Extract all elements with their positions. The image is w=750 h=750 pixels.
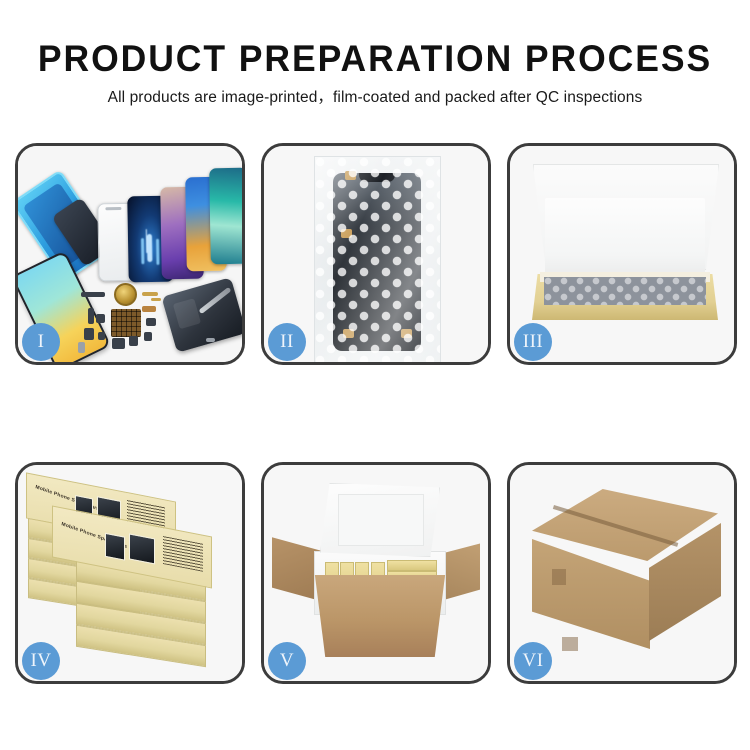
gold-contact-part (151, 298, 161, 301)
bubble-wrap-bag (314, 156, 441, 362)
panel-5-badge: V (268, 642, 306, 680)
box-spec-text-front (163, 536, 203, 572)
packed-box-5 (387, 560, 437, 571)
antenna-strip-part (88, 308, 94, 324)
chip-array-part (111, 309, 141, 337)
speaker-coil-part (114, 283, 137, 306)
page-header: PRODUCT PREPARATION PROCESS All products… (0, 0, 750, 109)
styrofoam-lid (320, 483, 440, 557)
button-flex-part (78, 342, 85, 353)
loudspeaker-part (129, 336, 138, 346)
page-title: PRODUCT PREPARATION PROCESS (15, 38, 735, 80)
foam-sheet (545, 198, 705, 280)
panel-2-badge: II (268, 323, 306, 361)
flex-cable-part (81, 292, 105, 297)
page-subtitle: All products are image-printed，film-coat… (0, 87, 750, 109)
panel-1-badge: I (22, 323, 60, 361)
screw-pack-part (144, 332, 152, 341)
box-window-front-1 (105, 533, 125, 561)
process-panel-5[interactable]: V (261, 462, 491, 684)
bag-sheen (315, 157, 440, 362)
copper-shield-part (142, 306, 156, 312)
process-panel-3[interactable]: III (507, 143, 737, 365)
carton-tape-upper (552, 569, 566, 585)
screwdriver-bit-part (206, 338, 215, 342)
bubble-wrapped-contents (544, 277, 706, 305)
process-panel-grid: I II III (15, 143, 737, 684)
gold-connector-part (142, 292, 158, 296)
carton-body (306, 575, 454, 657)
process-panel-2[interactable]: II (261, 143, 491, 365)
sim-tray-part (98, 332, 105, 340)
panel-4-badge: IV (22, 642, 60, 680)
process-panel-6[interactable]: VI (507, 462, 737, 684)
panel-6-badge: VI (514, 642, 552, 680)
camera-module-part (96, 314, 105, 323)
process-panel-4[interactable]: Mobile Phone Spare Parts Mobile Phone Sp… (15, 462, 245, 684)
sensor-part (146, 318, 156, 326)
box-window-front-2 (129, 533, 155, 564)
process-panel-1[interactable]: I (15, 143, 245, 365)
carton-tape-lower (562, 637, 578, 651)
earpiece-part (112, 338, 125, 349)
vibration-motor-part (84, 328, 94, 340)
phone-screen-teal (209, 168, 242, 265)
panel-3-badge: III (514, 323, 552, 361)
